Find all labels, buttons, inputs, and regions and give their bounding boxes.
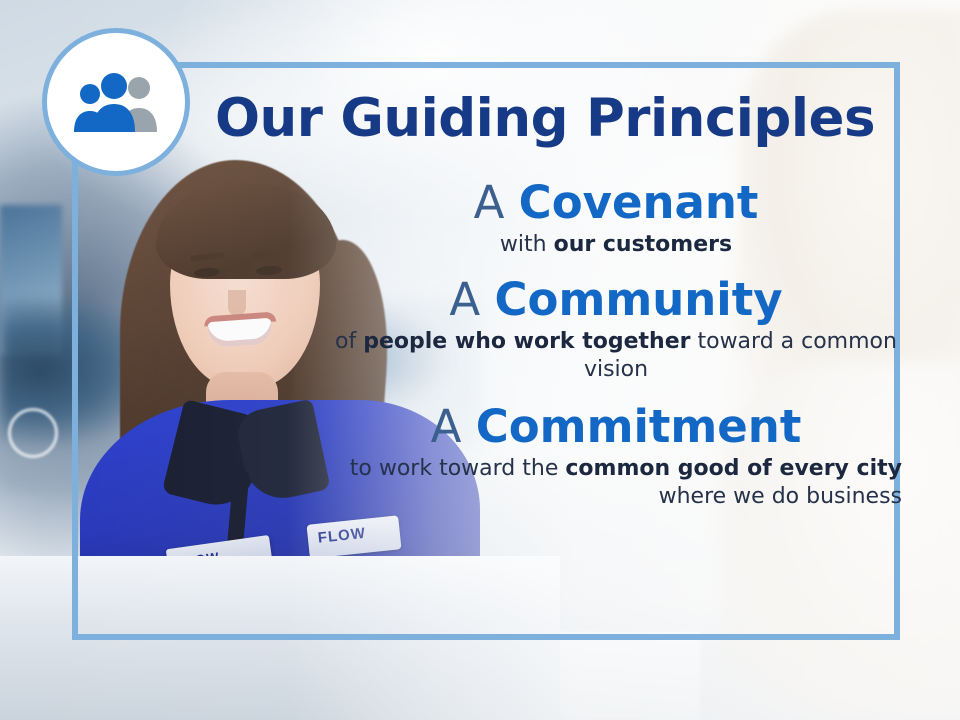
page-title: Our Guiding Principles	[0, 92, 960, 145]
principle-1-title: A Covenant	[330, 180, 902, 227]
principle-3-title: A Commitment	[330, 404, 902, 451]
principle-1-sub-part-2: our customers	[554, 232, 733, 257]
principle-1-subtext: with our customers	[330, 231, 902, 259]
principle-3-subtext: to work toward the common good of every …	[330, 455, 902, 511]
principle-2-word: Community	[495, 273, 783, 326]
principle-1-word: Covenant	[519, 176, 759, 229]
principle-3-word: Commitment	[476, 400, 802, 453]
principle-item-3: A Commitment to work toward the common g…	[330, 404, 902, 511]
principle-2-sub-part-1: of	[335, 329, 363, 354]
principle-2-article: A	[449, 273, 480, 326]
principle-3-sub-part-3: where we do business	[659, 484, 902, 509]
principle-3-article: A	[431, 400, 462, 453]
graphic-canvas: FLOW FLOW AUTOMOTIVE Our Guiding Princip…	[0, 0, 960, 720]
principle-2-sub-part-2: people who work together	[363, 329, 690, 354]
principle-2-subtext: of people who work together toward a com…	[330, 328, 902, 384]
principle-1-article: A	[474, 176, 505, 229]
principle-3-sub-part-2: common good of every city	[565, 456, 902, 481]
principle-item-1: A Covenant with our customers	[330, 180, 902, 259]
principle-item-2: A Community of people who work together …	[330, 277, 902, 384]
principle-1-sub-part-1: with	[500, 232, 554, 257]
principle-2-title: A Community	[330, 277, 902, 324]
principles-list: A Covenant with our customers A Communit…	[330, 180, 902, 517]
principle-3-sub-part-1: to work toward the	[350, 456, 566, 481]
